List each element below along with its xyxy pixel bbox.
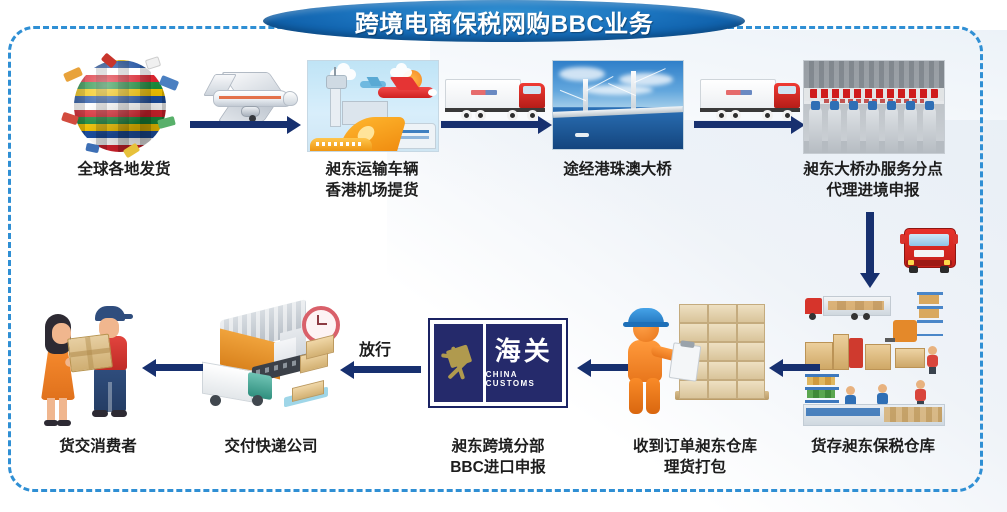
consumer-handoff-icon [33,300,153,418]
step-6-label-line1: 昶东跨境分部 [418,437,578,457]
arrow-delivery-to-consumer [155,364,203,371]
step-7-label: 交付快递公司 [196,437,346,457]
arrow-step3-to-step4 [694,121,792,128]
arrow-step6-to-customs [590,364,628,371]
world-flags-globe-icon [62,56,180,156]
arrow-customs-to-delivery [353,366,421,373]
step-5b-label-line2: 理货打包 [605,458,785,478]
step-2-label-line1: 昶东运输车辆 [307,160,437,180]
diagram-canvas: 跨境电商保税网购BBC业务 全球各地发货 昶东运输车辆 香港机场提货 [0,0,1007,512]
step-1-label: 全球各地发货 [54,160,194,180]
step-4-label-line1: 昶东大桥办服务分点 [793,160,953,180]
warehouse-dispatch-icon [196,300,346,420]
step-5-label: 货存昶东保税仓库 [788,437,958,457]
bonded-warehouse-collage-icon [803,292,943,424]
step-4-label-line2: 代理进境申报 [793,181,953,201]
arrow-step2-to-step3 [441,121,539,128]
step-2-label-line2: 香港机场提货 [307,181,437,201]
china-customs-logo-icon: 海关 CHINA CUSTOMS [428,318,568,408]
arrow-step5-to-step6 [782,364,820,371]
parcel-box [67,334,113,373]
border-checkpoint-photo-icon [803,60,945,154]
worker-pallet-icon [615,296,765,416]
red-truck-front-icon [900,222,958,274]
bridge-photo-icon [552,60,684,150]
page-title: 跨境电商保税网购BBC业务 [355,4,654,39]
cargo-truck-icon-2 [700,77,804,123]
arrow-step4-to-step5 [866,212,874,274]
step-3-label: 途经港珠澳大桥 [540,160,695,180]
step-6-label-line2: BBC进口申报 [418,458,578,478]
title-banner: 跨境电商保税网购BBC业务 [263,0,745,42]
customs-english-text: CHINA CUSTOMS [486,370,562,388]
release-label: 放行 [359,336,391,360]
airplane-icon [205,66,297,128]
step-5b-label-line1: 收到订单昶东仓库 [605,437,785,457]
arrow-step1-to-step2 [190,121,288,128]
customs-chinese-text: 海关 [495,339,553,365]
step-8-label: 货交消费者 [33,437,163,457]
cargo-truck-icon-1 [445,77,549,123]
airport-plane-icon [307,60,439,152]
